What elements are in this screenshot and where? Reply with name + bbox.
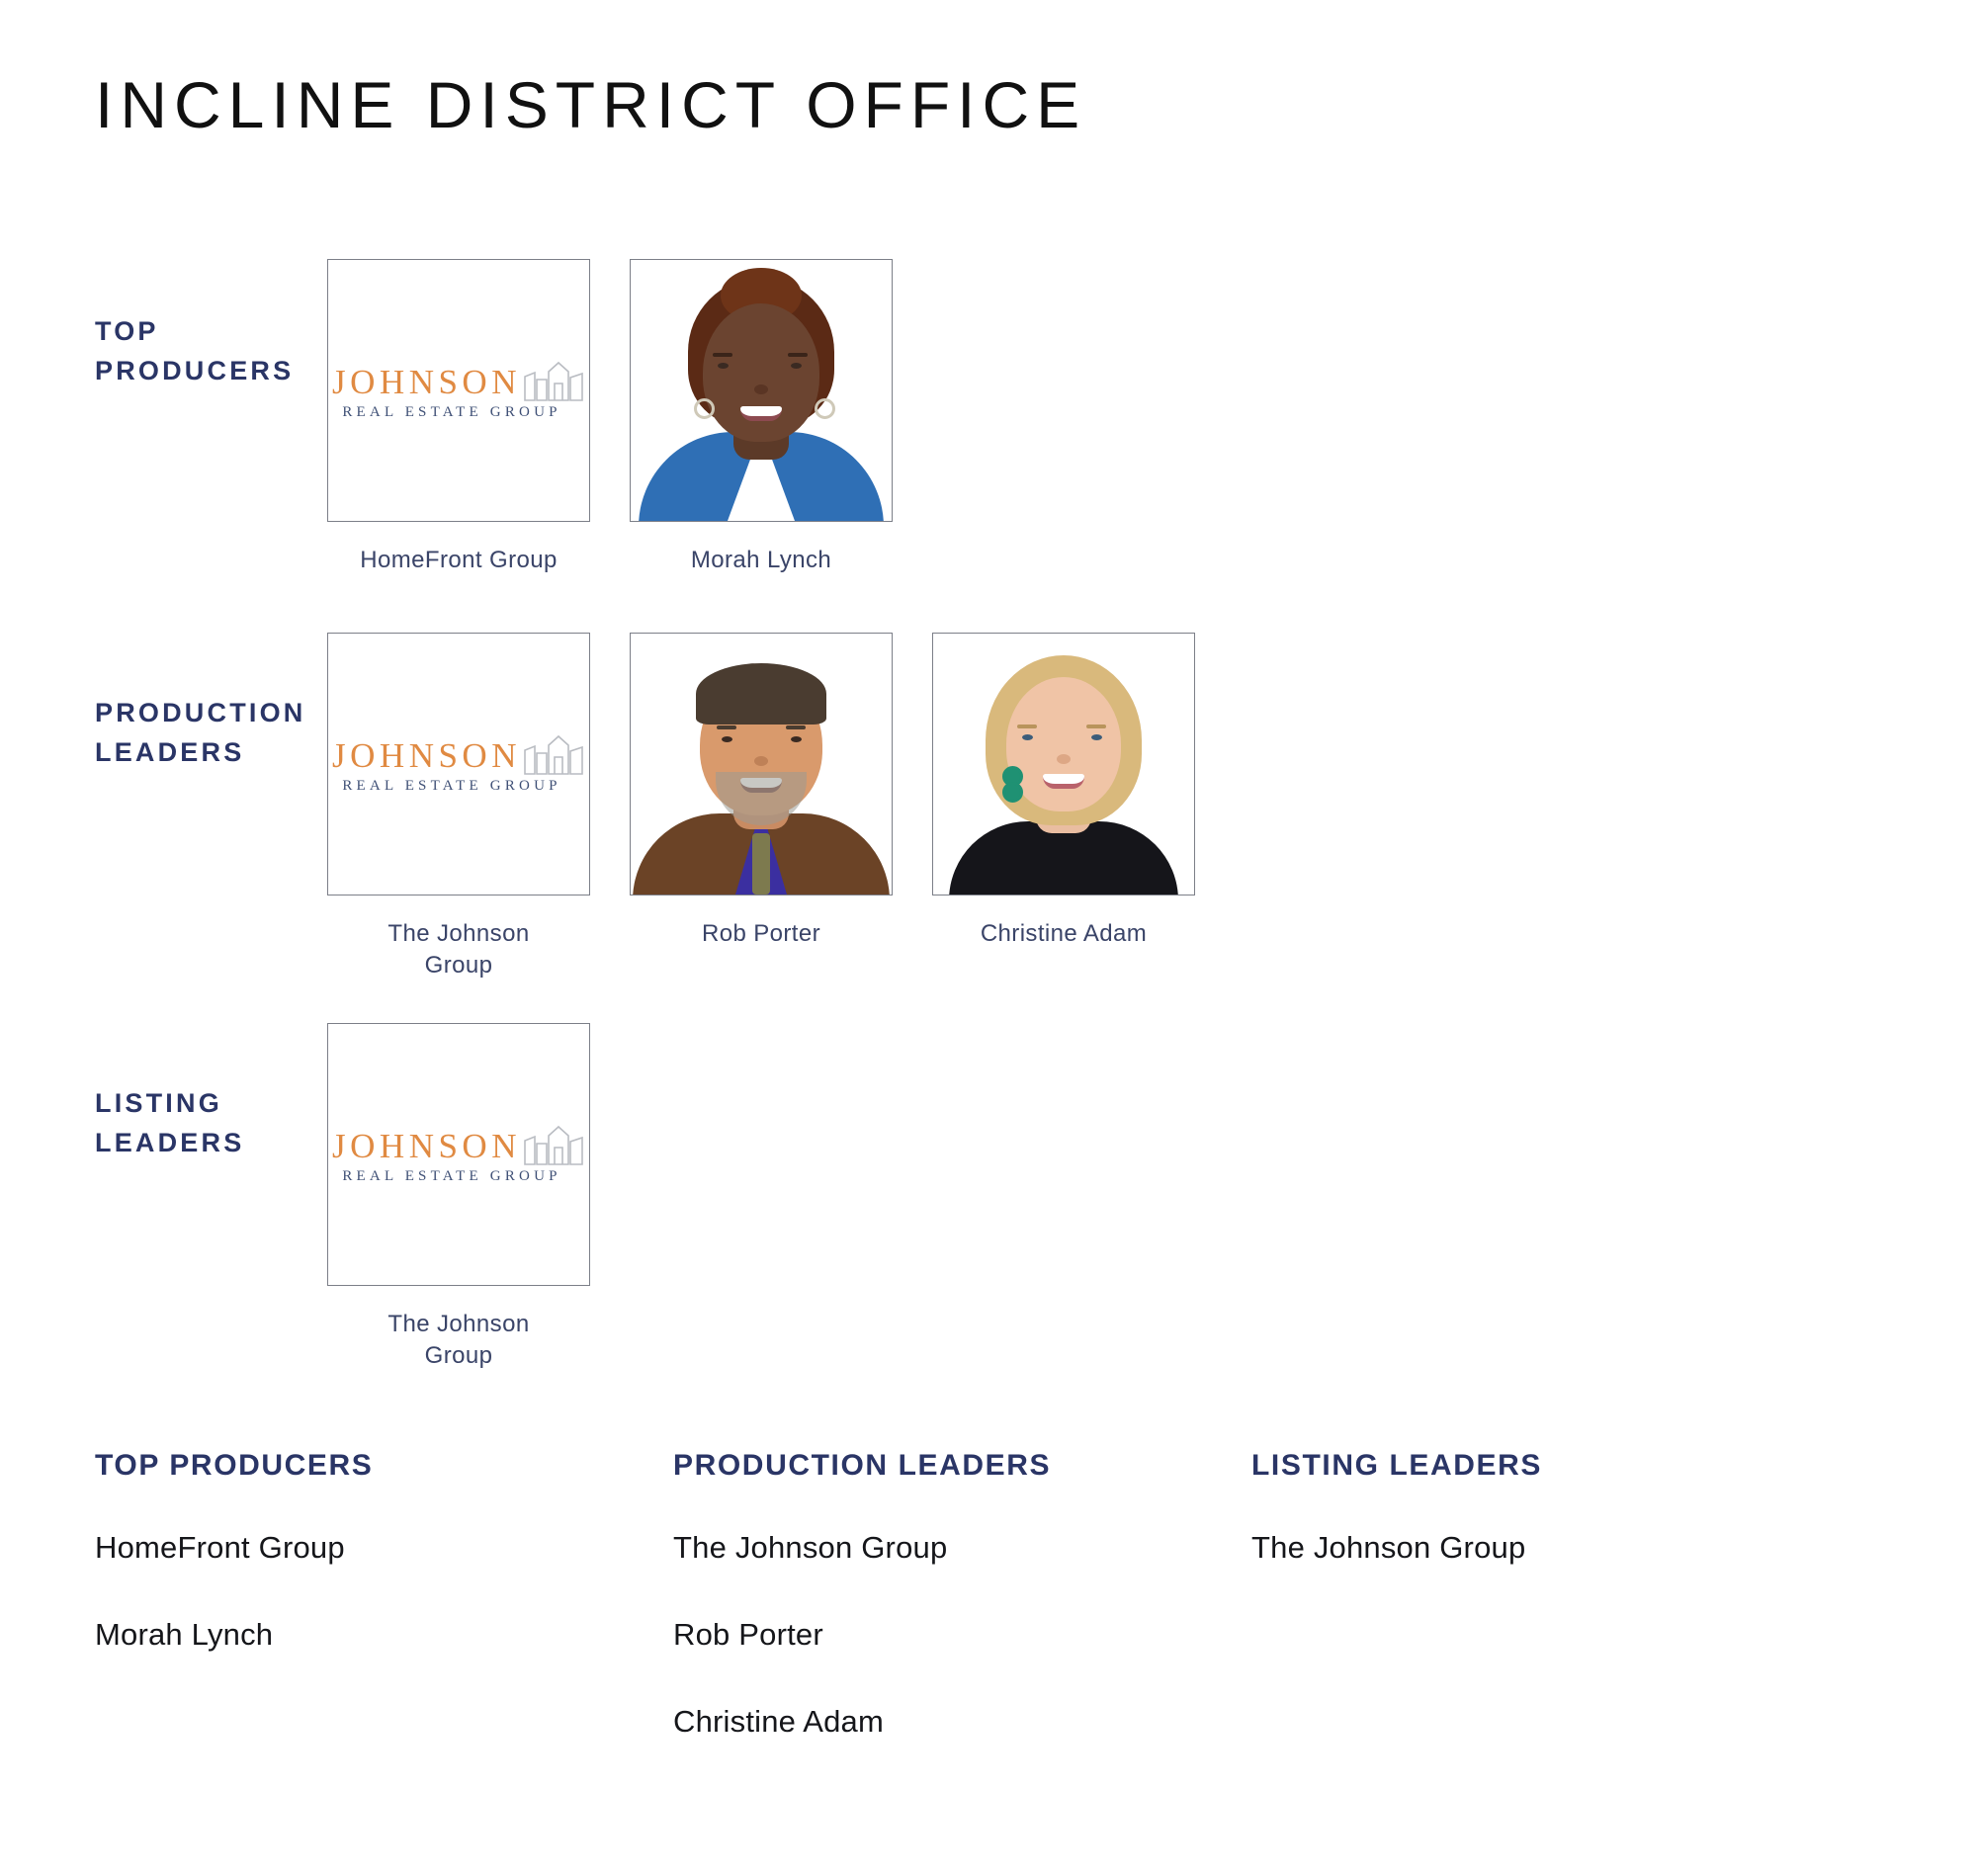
award-tile-rob-porter[interactable]: Rob Porter xyxy=(629,633,894,950)
johnson-wordmark: JOHNSON xyxy=(332,738,521,774)
page-title: INCLINE DISTRICT OFFICE xyxy=(95,67,1086,142)
award-tile-the-johnson-group[interactable]: JOHNSON REAL EST xyxy=(326,633,591,982)
johnson-logo: JOHNSON REAL EST xyxy=(328,1124,589,1185)
award-tile-the-johnson-group-listing[interactable]: JOHNSON REAL EST xyxy=(326,1023,591,1373)
tile-caption: HomeFront Group xyxy=(360,545,557,576)
award-row-top-producers: TOP PRODUCERS JOHNSON xyxy=(0,259,1977,633)
summary-item: Christine Adam xyxy=(673,1704,1251,1740)
row-label-production-leaders: PRODUCTION LEADERS xyxy=(0,633,326,773)
logo-tile[interactable]: JOHNSON REAL EST xyxy=(327,1023,590,1286)
tile-group: JOHNSON REAL EST xyxy=(326,1023,629,1373)
summary-column-production-leaders: PRODUCTION LEADERS The Johnson Group Rob… xyxy=(673,1449,1251,1791)
summary-item: Morah Lynch xyxy=(95,1617,673,1653)
johnson-logo-top: JOHNSON xyxy=(332,733,585,774)
tile-group: JOHNSON REAL EST xyxy=(326,633,1234,982)
logo-tile[interactable]: JOHNSON REAL EST xyxy=(327,633,590,895)
summary-columns: TOP PRODUCERS HomeFront Group Morah Lync… xyxy=(95,1449,1904,1791)
award-rows: TOP PRODUCERS JOHNSON xyxy=(0,259,1977,1418)
tile-caption: Morah Lynch xyxy=(691,545,831,576)
johnson-wordmark: JOHNSON xyxy=(332,365,521,400)
photo-tile[interactable] xyxy=(630,259,893,522)
tile-caption: The Johnson Group xyxy=(370,918,548,982)
johnson-logo: JOHNSON REAL EST xyxy=(328,733,589,795)
johnson-logo-top: JOHNSON xyxy=(332,360,585,400)
award-tile-christine-adam[interactable]: Christine Adam xyxy=(931,633,1196,950)
tile-group: JOHNSON REAL EST xyxy=(326,259,931,576)
row-label-line: LISTING xyxy=(95,1084,326,1124)
johnson-wordmark: JOHNSON xyxy=(332,1129,521,1164)
rob-porter-headshot xyxy=(631,634,892,895)
summary-heading: TOP PRODUCERS xyxy=(95,1449,673,1483)
summary-item: The Johnson Group xyxy=(673,1530,1251,1566)
johnson-tagline: REAL ESTATE GROUP xyxy=(342,778,560,795)
skyline-buildings-icon xyxy=(522,733,585,775)
row-label-line: PRODUCERS xyxy=(95,352,326,391)
row-label-top-producers: TOP PRODUCERS xyxy=(0,259,326,391)
tile-caption: Christine Adam xyxy=(981,918,1147,950)
summary-item: The Johnson Group xyxy=(1251,1530,1830,1566)
summary-heading: PRODUCTION LEADERS xyxy=(673,1449,1251,1483)
photo-tile[interactable] xyxy=(932,633,1195,895)
row-label-listing-leaders: LISTING LEADERS xyxy=(0,1023,326,1163)
tile-caption: Rob Porter xyxy=(702,918,820,950)
summary-item: Rob Porter xyxy=(673,1617,1251,1653)
johnson-logo: JOHNSON REAL EST xyxy=(328,360,589,421)
skyline-buildings-icon xyxy=(522,1124,585,1165)
row-label-line: LEADERS xyxy=(95,1124,326,1163)
award-row-listing-leaders: LISTING LEADERS JOHNSON xyxy=(0,1023,1977,1418)
summary-item: HomeFront Group xyxy=(95,1530,673,1566)
photo-tile[interactable] xyxy=(630,633,893,895)
skyline-buildings-icon xyxy=(522,360,585,401)
award-row-production-leaders: PRODUCTION LEADERS JOHNSON xyxy=(0,633,1977,1023)
row-label-line: TOP xyxy=(95,312,326,352)
award-tile-morah-lynch[interactable]: Morah Lynch xyxy=(629,259,894,576)
row-label-line: PRODUCTION xyxy=(95,694,326,733)
tile-caption: The Johnson Group xyxy=(370,1309,548,1373)
award-tile-homefront-group[interactable]: JOHNSON REAL EST xyxy=(326,259,591,576)
johnson-tagline: REAL ESTATE GROUP xyxy=(342,1168,560,1185)
johnson-logo-top: JOHNSON xyxy=(332,1124,585,1164)
logo-tile[interactable]: JOHNSON REAL EST xyxy=(327,259,590,522)
summary-heading: LISTING LEADERS xyxy=(1251,1449,1830,1483)
christine-adam-headshot xyxy=(933,634,1194,895)
summary-column-listing-leaders: LISTING LEADERS The Johnson Group xyxy=(1251,1449,1830,1791)
row-label-line: LEADERS xyxy=(95,733,326,773)
morah-lynch-headshot xyxy=(631,260,892,521)
johnson-tagline: REAL ESTATE GROUP xyxy=(342,404,560,421)
summary-column-top-producers: TOP PRODUCERS HomeFront Group Morah Lync… xyxy=(95,1449,673,1791)
